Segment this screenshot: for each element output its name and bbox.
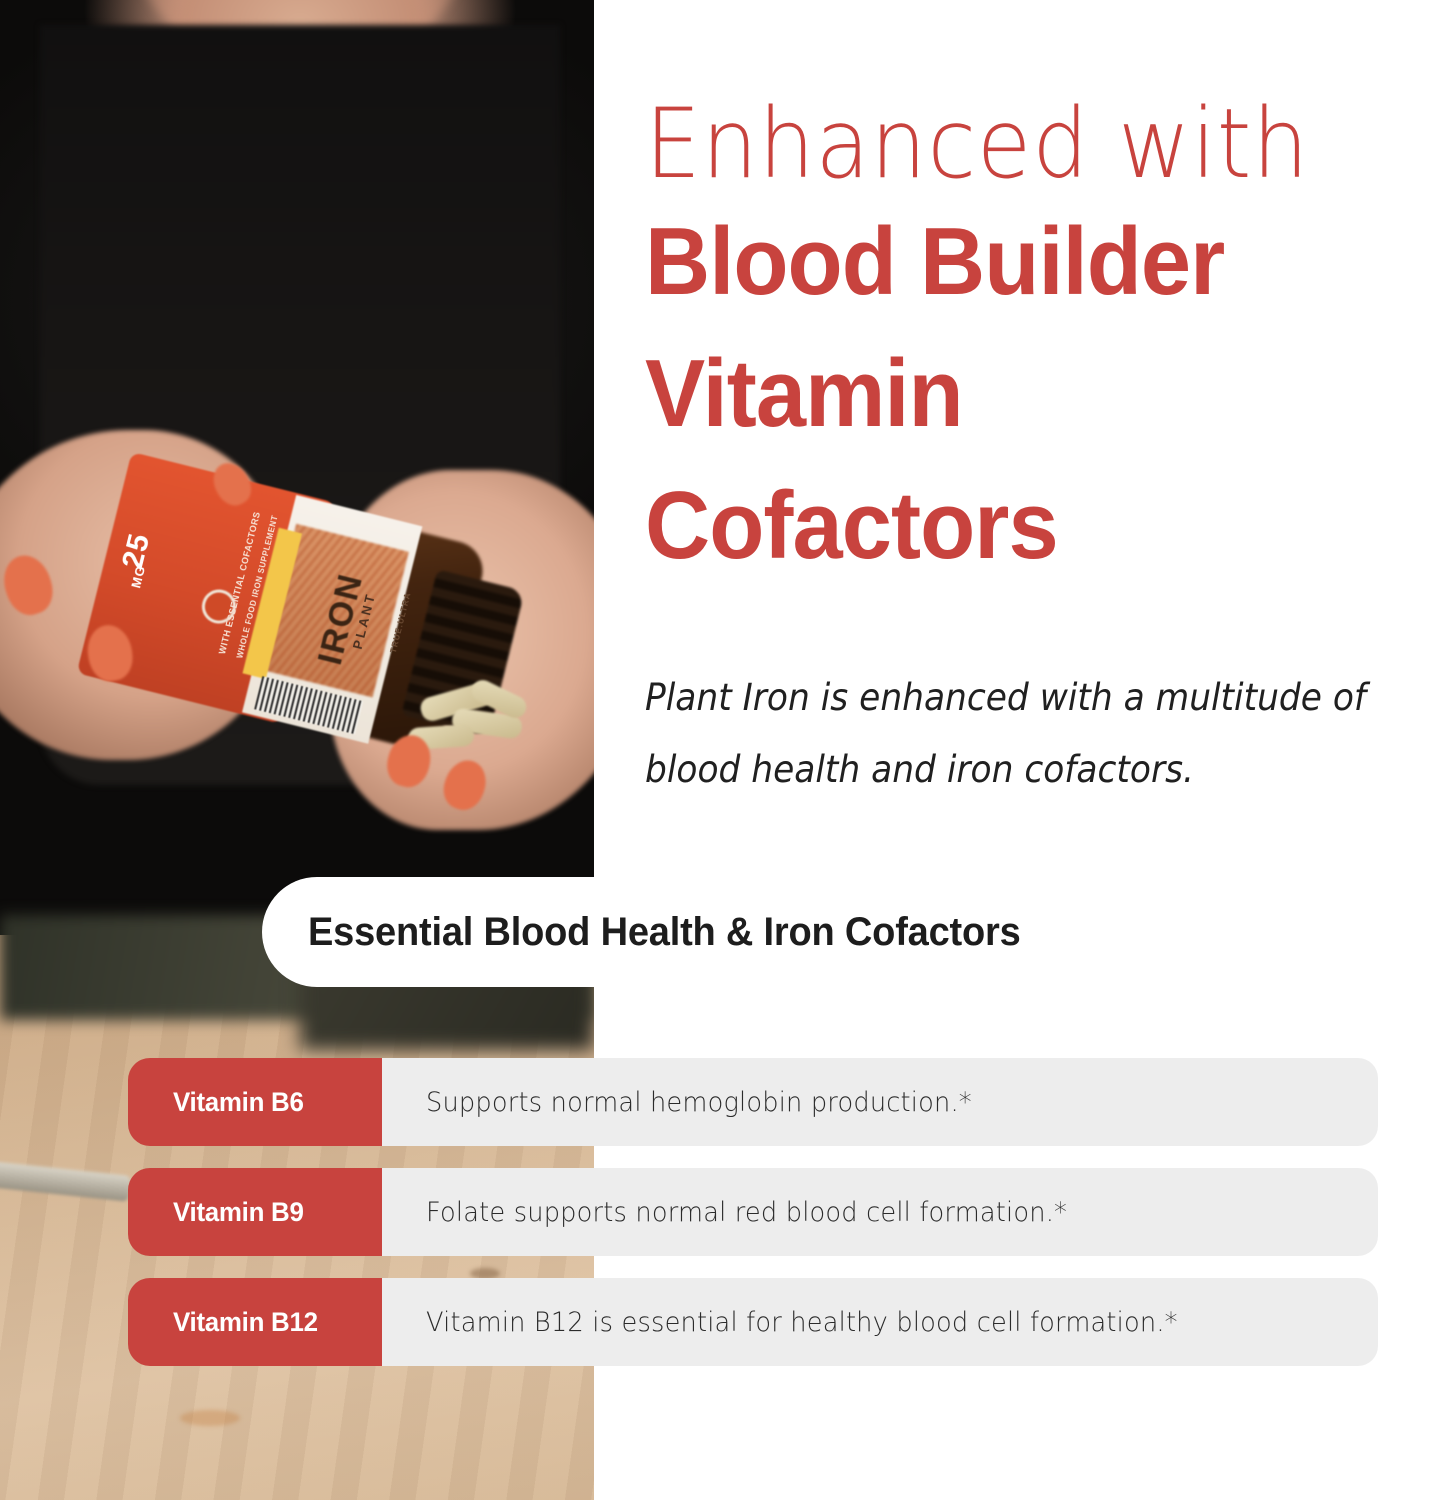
photo-upper-scene: 25 MG WITH ESSENTIAL COFACTORS WHOLE FOO… <box>0 0 594 935</box>
hero-headline: Enhanced with Blood Builder Vitamin Cofa… <box>645 92 1455 592</box>
cofactor-name: Vitamin B6 <box>173 1087 304 1118</box>
headline-line-2: Vitamin <box>645 328 1444 460</box>
hero-subtitle-line-1: Plant Iron is enhanced with a multitude … <box>645 662 1380 734</box>
cofactor-description-bar: Supports normal hemoglobin production.* <box>382 1058 1378 1146</box>
list-item: Vitamin B12 Vitamin B12 is essential for… <box>128 1278 1378 1366</box>
headline-line-1: Blood Builder <box>645 196 1444 328</box>
hero-subtitle: Plant Iron is enhanced with a multitude … <box>645 662 1380 806</box>
cofactor-list: Vitamin B6 Supports normal hemoglobin pr… <box>128 1058 1378 1388</box>
list-item: Vitamin B6 Supports normal hemoglobin pr… <box>128 1058 1378 1146</box>
cofactor-name: Vitamin B12 <box>173 1307 318 1338</box>
cofactor-name-tag: Vitamin B12 <box>128 1278 382 1366</box>
product-infographic: 25 MG WITH ESSENTIAL COFACTORS WHOLE FOO… <box>0 0 1455 1500</box>
wood-knot <box>180 1410 240 1426</box>
headline-eyebrow: Enhanced with <box>645 92 1427 196</box>
cofactor-name-tag: Vitamin B6 <box>128 1058 382 1146</box>
list-item: Vitamin B9 Folate supports normal red bl… <box>128 1168 1378 1256</box>
cofactor-description-bar: Vitamin B12 is essential for healthy blo… <box>382 1278 1378 1366</box>
cofactor-description: Supports normal hemoglobin production.* <box>426 1087 972 1118</box>
section-banner: Essential Blood Health & Iron Cofactors <box>262 877 1387 987</box>
headline-line-3: Cofactors <box>645 460 1444 592</box>
cofactor-name: Vitamin B9 <box>173 1197 304 1228</box>
hero-subtitle-line-2: blood health and iron cofactors. <box>645 734 1380 806</box>
section-banner-title: Essential Blood Health & Iron Cofactors <box>308 910 1021 955</box>
cofactor-name-tag: Vitamin B9 <box>128 1168 382 1256</box>
cofactor-description-bar: Folate supports normal red blood cell fo… <box>382 1168 1378 1256</box>
cofactor-description: Vitamin B12 is essential for healthy blo… <box>426 1307 1178 1338</box>
cofactor-description: Folate supports normal red blood cell fo… <box>426 1197 1067 1228</box>
